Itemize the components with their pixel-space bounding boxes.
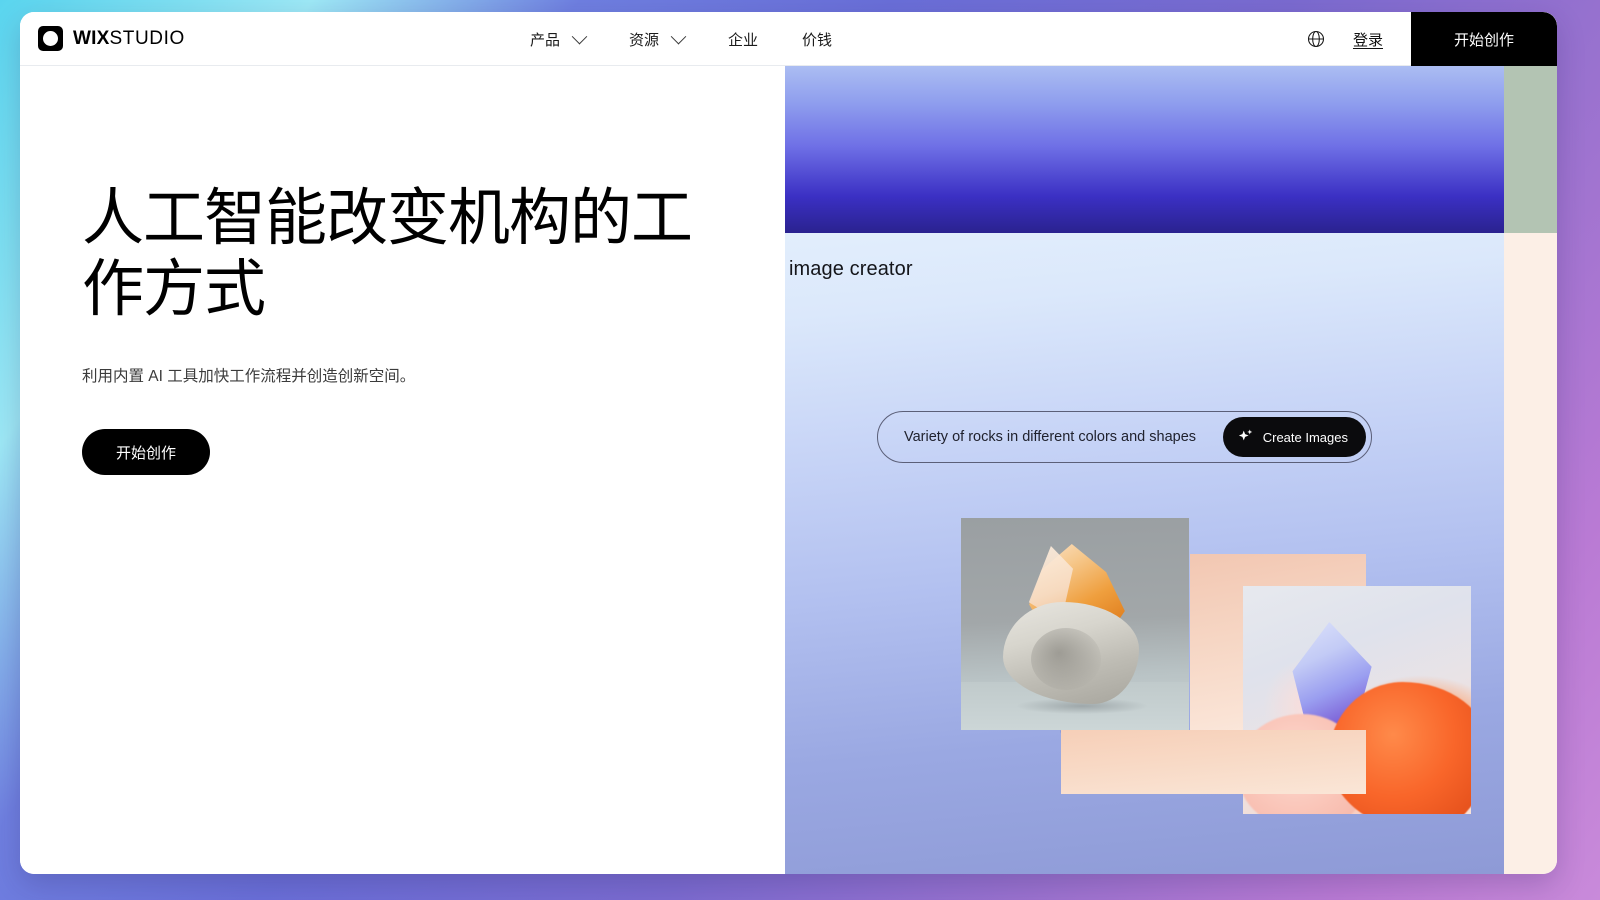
gradient-band-top	[785, 66, 1504, 233]
brand-wordmark: WIXSTUDIO	[73, 28, 185, 50]
wix-logo-icon	[38, 26, 63, 51]
nav-item-resources[interactable]: 资源	[629, 29, 684, 50]
header-start-creating-button[interactable]: 开始创作	[1411, 12, 1557, 66]
prompt-bar[interactable]: Variety of rocks in different colors and…	[877, 411, 1372, 463]
hero-start-creating-button[interactable]: 开始创作	[82, 429, 210, 475]
main-navigation: 产品 资源 企业 价钱	[530, 12, 832, 66]
image-creator-showcase: image creator Variety of rocks in differ…	[785, 66, 1557, 874]
header-actions: 登录 开始创作	[1295, 12, 1557, 66]
page-card: WIXSTUDIO 产品 资源 企业 价钱	[20, 12, 1557, 874]
side-strip-cream	[1504, 233, 1557, 874]
side-strip-green	[1504, 66, 1557, 233]
hero-subtitle: 利用内置 AI 工具加快工作流程并创造创新空间。	[82, 365, 464, 389]
chevron-down-icon	[572, 28, 588, 44]
nav-item-products[interactable]: 产品	[530, 29, 585, 50]
nav-item-pricing[interactable]: 价钱	[802, 29, 832, 50]
create-images-label: Create Images	[1263, 430, 1348, 445]
nav-item-enterprise[interactable]: 企业	[728, 29, 758, 50]
nav-item-label: 资源	[629, 29, 659, 50]
brand-name-bold: WIX	[73, 28, 110, 49]
site-header: WIXSTUDIO 产品 资源 企业 价钱	[20, 12, 1557, 66]
sparkle-icon	[1237, 428, 1255, 446]
brand-logo[interactable]: WIXSTUDIO	[38, 26, 185, 51]
brand-name-light: STUDIO	[110, 28, 185, 49]
hero-text-column: 人工智能改变机构的工作方式 利用内置 AI 工具加快工作流程并创造创新空间。 开…	[20, 66, 785, 874]
page-title: 人工智能改变机构的工作方式	[82, 184, 722, 325]
chevron-down-icon	[671, 28, 687, 44]
nav-item-label: 企业	[728, 29, 758, 50]
prompt-input[interactable]: Variety of rocks in different colors and…	[904, 429, 1196, 445]
nav-item-label: 价钱	[802, 29, 832, 50]
login-link[interactable]: 登录	[1353, 29, 1383, 50]
hero-section: 人工智能改变机构的工作方式 利用内置 AI 工具加快工作流程并创造创新空间。 开…	[20, 66, 1557, 874]
gradient-band-bottom	[785, 233, 1504, 874]
image-creator-label: image creator	[789, 258, 913, 281]
globe-icon[interactable]	[1295, 12, 1337, 66]
nav-item-label: 产品	[530, 29, 560, 50]
create-images-button[interactable]: Create Images	[1223, 417, 1366, 457]
